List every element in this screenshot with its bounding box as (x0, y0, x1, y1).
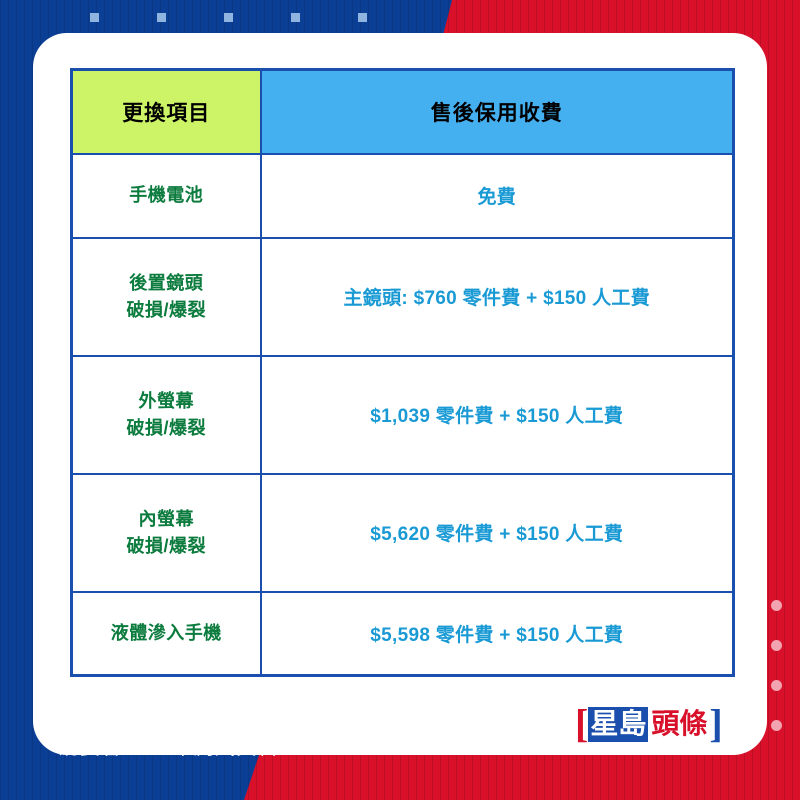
decor-dot (771, 640, 782, 651)
item-line-2: 破損/爆裂 (73, 533, 260, 559)
cell-item-name: 外螢幕 破損/爆裂 (72, 356, 261, 474)
table-row: 液體滲入手機 $5,598 零件費 + $150 人工費 (72, 592, 734, 676)
item-line-1: 液體滲入手機 (111, 623, 222, 643)
table-row: 內螢幕 破損/爆裂 $5,620 零件費 + $150 人工費 (72, 474, 734, 592)
item-line-1: 外螢幕 (139, 391, 195, 411)
logo-bracket-left-icon: [ (575, 704, 588, 744)
decor-square (157, 13, 166, 22)
source-caption: 消委會2024年測試資料 (58, 731, 279, 761)
cell-fee-value: $5,620 零件費 + $150 人工費 (261, 474, 734, 592)
item-line-2: 破損/爆裂 (73, 415, 260, 441)
top-decorative-squares (90, 13, 367, 22)
decor-square (291, 13, 300, 22)
item-line-2: 破損/爆裂 (73, 297, 260, 323)
decor-dot (771, 680, 782, 691)
fee-table: 更換項目 售後保用收費 手機電池 免費 後置鏡頭 破損/爆裂 主鏡頭: $760 (70, 68, 735, 677)
decor-square (358, 13, 367, 22)
table-header-row: 更換項目 售後保用收費 (72, 70, 734, 154)
fee-table-container: 更換項目 售後保用收費 手機電池 免費 後置鏡頭 破損/爆裂 主鏡頭: $760 (70, 68, 732, 677)
logo-bracket-right-icon: ] (709, 704, 722, 744)
cell-fee-value: $5,598 零件費 + $150 人工費 (261, 592, 734, 676)
header-cell-item: 更換項目 (72, 70, 261, 154)
table-row: 手機電池 免費 (72, 154, 734, 238)
decor-dot (771, 720, 782, 731)
cell-item-name: 內螢幕 破損/爆裂 (72, 474, 261, 592)
logo-word-red: 頭條 (648, 707, 709, 742)
right-decorative-dots (771, 600, 782, 731)
sing-tao-headline-logo: [ 星島 頭條 ] (575, 703, 723, 745)
cell-item-name: 手機電池 (72, 154, 261, 238)
table-row: 外螢幕 破損/爆裂 $1,039 零件費 + $150 人工費 (72, 356, 734, 474)
table-row: 後置鏡頭 破損/爆裂 主鏡頭: $760 零件費 + $150 人工費 (72, 238, 734, 356)
cell-fee-value: 免費 (261, 154, 734, 238)
decor-square (90, 13, 99, 22)
item-line-1: 內螢幕 (139, 509, 195, 529)
cell-item-name: 液體滲入手機 (72, 592, 261, 676)
cell-item-name: 後置鏡頭 破損/爆裂 (72, 238, 261, 356)
cell-fee-value: $1,039 零件費 + $150 人工費 (261, 356, 734, 474)
decor-dot (771, 600, 782, 611)
item-line-1: 手機電池 (129, 185, 203, 205)
item-line-1: 後置鏡頭 (129, 273, 203, 293)
infographic-page: 更換項目 售後保用收費 手機電池 免費 後置鏡頭 破損/爆裂 主鏡頭: $760 (0, 0, 800, 800)
decor-square (224, 13, 233, 22)
logo-word-blue: 星島 (588, 707, 648, 742)
cell-fee-value: 主鏡頭: $760 零件費 + $150 人工費 (261, 238, 734, 356)
header-cell-fee: 售後保用收費 (261, 70, 734, 154)
